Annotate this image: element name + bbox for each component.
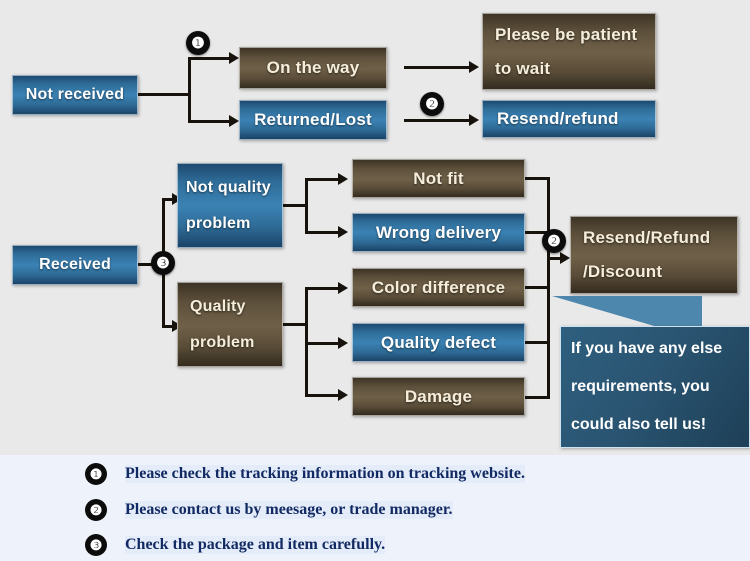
node-wrong-delivery-label: Wrong delivery [376, 223, 501, 243]
callout-line3: could also tell us! [571, 406, 749, 444]
node-damage-label: Damage [405, 387, 472, 407]
connector-not-received-trunk [138, 93, 190, 96]
callout-body[interactable]: If you have any else requirements, you c… [560, 326, 750, 448]
callout: If you have any else requirements, you c… [552, 296, 750, 448]
node-color-difference[interactable]: Color difference [352, 268, 525, 307]
connector-stub-damage [525, 396, 549, 399]
legend-item: ❶ Please check the tracking information … [85, 463, 525, 485]
badge-step-1-label: ❶ [191, 36, 204, 51]
node-quality-problem-line1: Quality [190, 289, 246, 325]
arrowhead-on-the-way [229, 52, 239, 64]
arrowhead-returned-lost [229, 115, 239, 127]
legend-badge-1: ❶ [85, 463, 107, 485]
node-on-the-way-label: On the way [267, 58, 360, 78]
connector-resolution-bus [547, 177, 550, 399]
node-not-quality-problem-line1: Not quality [186, 170, 271, 206]
connector-stub-quality-defect [525, 341, 549, 344]
flowchart-canvas: Not received ❶ On the way Returned/Lost … [0, 0, 750, 561]
badge-step-1: ❶ [186, 31, 210, 55]
legend-badge-3: ❸ [85, 534, 107, 556]
connector-to-wrong-delivery [305, 231, 341, 234]
node-resend-refund-discount-line2: /Discount [583, 255, 662, 289]
connector-to-not-fit [305, 178, 341, 181]
node-quality-problem-line2: problem [190, 325, 255, 361]
node-not-received[interactable]: Not received [12, 75, 138, 115]
badge-step-3-label: ❸ [156, 256, 169, 271]
node-returned-lost-label: Returned/Lost [254, 110, 372, 130]
arrowhead-quality-defect [338, 337, 348, 349]
legend-text-1: Please check the tracking information on… [125, 465, 525, 483]
node-resend-refund-label: Resend/refund [497, 109, 619, 129]
node-damage[interactable]: Damage [352, 377, 525, 416]
badge-step-2-top-label: ❷ [425, 97, 438, 112]
node-quality-defect[interactable]: Quality defect [352, 323, 525, 362]
legend-badge-1-label: ❶ [90, 467, 103, 481]
connector-to-returned-lost [188, 120, 232, 123]
connector-to-on-the-way [188, 57, 232, 60]
connector-to-damage [305, 394, 341, 397]
node-resend-refund-discount[interactable]: Resend/Refund /Discount [570, 216, 738, 294]
node-received-label: Received [39, 256, 111, 274]
node-please-be-patient-line2: to wait [495, 52, 550, 86]
legend-badge-3-label: ❸ [90, 538, 103, 552]
badge-step-2-bottom: ❷ [542, 229, 566, 253]
node-resend-refund[interactable]: Resend/refund [482, 100, 656, 138]
node-not-quality-problem[interactable]: Not quality problem [177, 163, 283, 248]
connector-returned-to-resend [404, 119, 472, 122]
node-on-the-way[interactable]: On the way [239, 47, 387, 89]
node-not-fit-label: Not fit [413, 169, 464, 189]
legend-text-3: Check the package and item carefully. [125, 536, 385, 554]
connector-not-received-split [188, 57, 191, 123]
arrowhead-resolution [560, 252, 570, 264]
node-wrong-delivery[interactable]: Wrong delivery [352, 213, 525, 252]
connector-to-color-difference [305, 287, 341, 290]
arrowhead-damage [338, 389, 348, 401]
node-returned-lost[interactable]: Returned/Lost [239, 100, 387, 140]
callout-line1: If you have any else [571, 330, 749, 368]
arrowhead-please-be-patient [469, 61, 479, 73]
connector-notquality-stem [283, 204, 307, 207]
connector-stub-not-fit [525, 177, 549, 180]
legend-item: ❸ Check the package and item carefully. [85, 534, 385, 556]
node-not-fit[interactable]: Not fit [352, 159, 525, 198]
badge-step-2-bottom-label: ❷ [547, 234, 560, 249]
node-color-difference-label: Color difference [372, 278, 506, 298]
arrowhead-wrong-delivery [338, 226, 348, 238]
connector-to-quality-defect [305, 342, 341, 345]
node-please-be-patient-line1: Please be patient [495, 18, 637, 52]
node-resend-refund-discount-line1: Resend/Refund [583, 221, 710, 255]
node-please-be-patient[interactable]: Please be patient to wait [482, 13, 656, 90]
legend: ❶ Please check the tracking information … [0, 455, 750, 561]
node-not-received-label: Not received [26, 86, 124, 104]
arrowhead-color-difference [338, 282, 348, 294]
connector-notquality-bus [305, 178, 308, 234]
badge-step-3: ❸ [151, 251, 175, 275]
legend-text-2: Please contact us by meesage, or trade m… [125, 501, 453, 519]
legend-badge-2: ❷ [85, 499, 107, 521]
arrowhead-resend-refund [469, 114, 479, 126]
connector-on-the-way-to-wait [404, 66, 472, 69]
node-quality-defect-label: Quality defect [381, 333, 496, 353]
arrowhead-not-fit [338, 173, 348, 185]
node-quality-problem[interactable]: Quality problem [177, 282, 283, 367]
badge-step-2-top: ❷ [420, 92, 444, 116]
legend-item: ❷ Please contact us by meesage, or trade… [85, 499, 453, 521]
connector-quality-stem [283, 323, 307, 326]
callout-line2: requirements, you [571, 368, 749, 406]
legend-badge-2-label: ❷ [90, 503, 103, 517]
node-received[interactable]: Received [12, 245, 138, 285]
connector-stub-color-difference [525, 286, 549, 289]
node-not-quality-problem-line2: problem [186, 206, 251, 242]
